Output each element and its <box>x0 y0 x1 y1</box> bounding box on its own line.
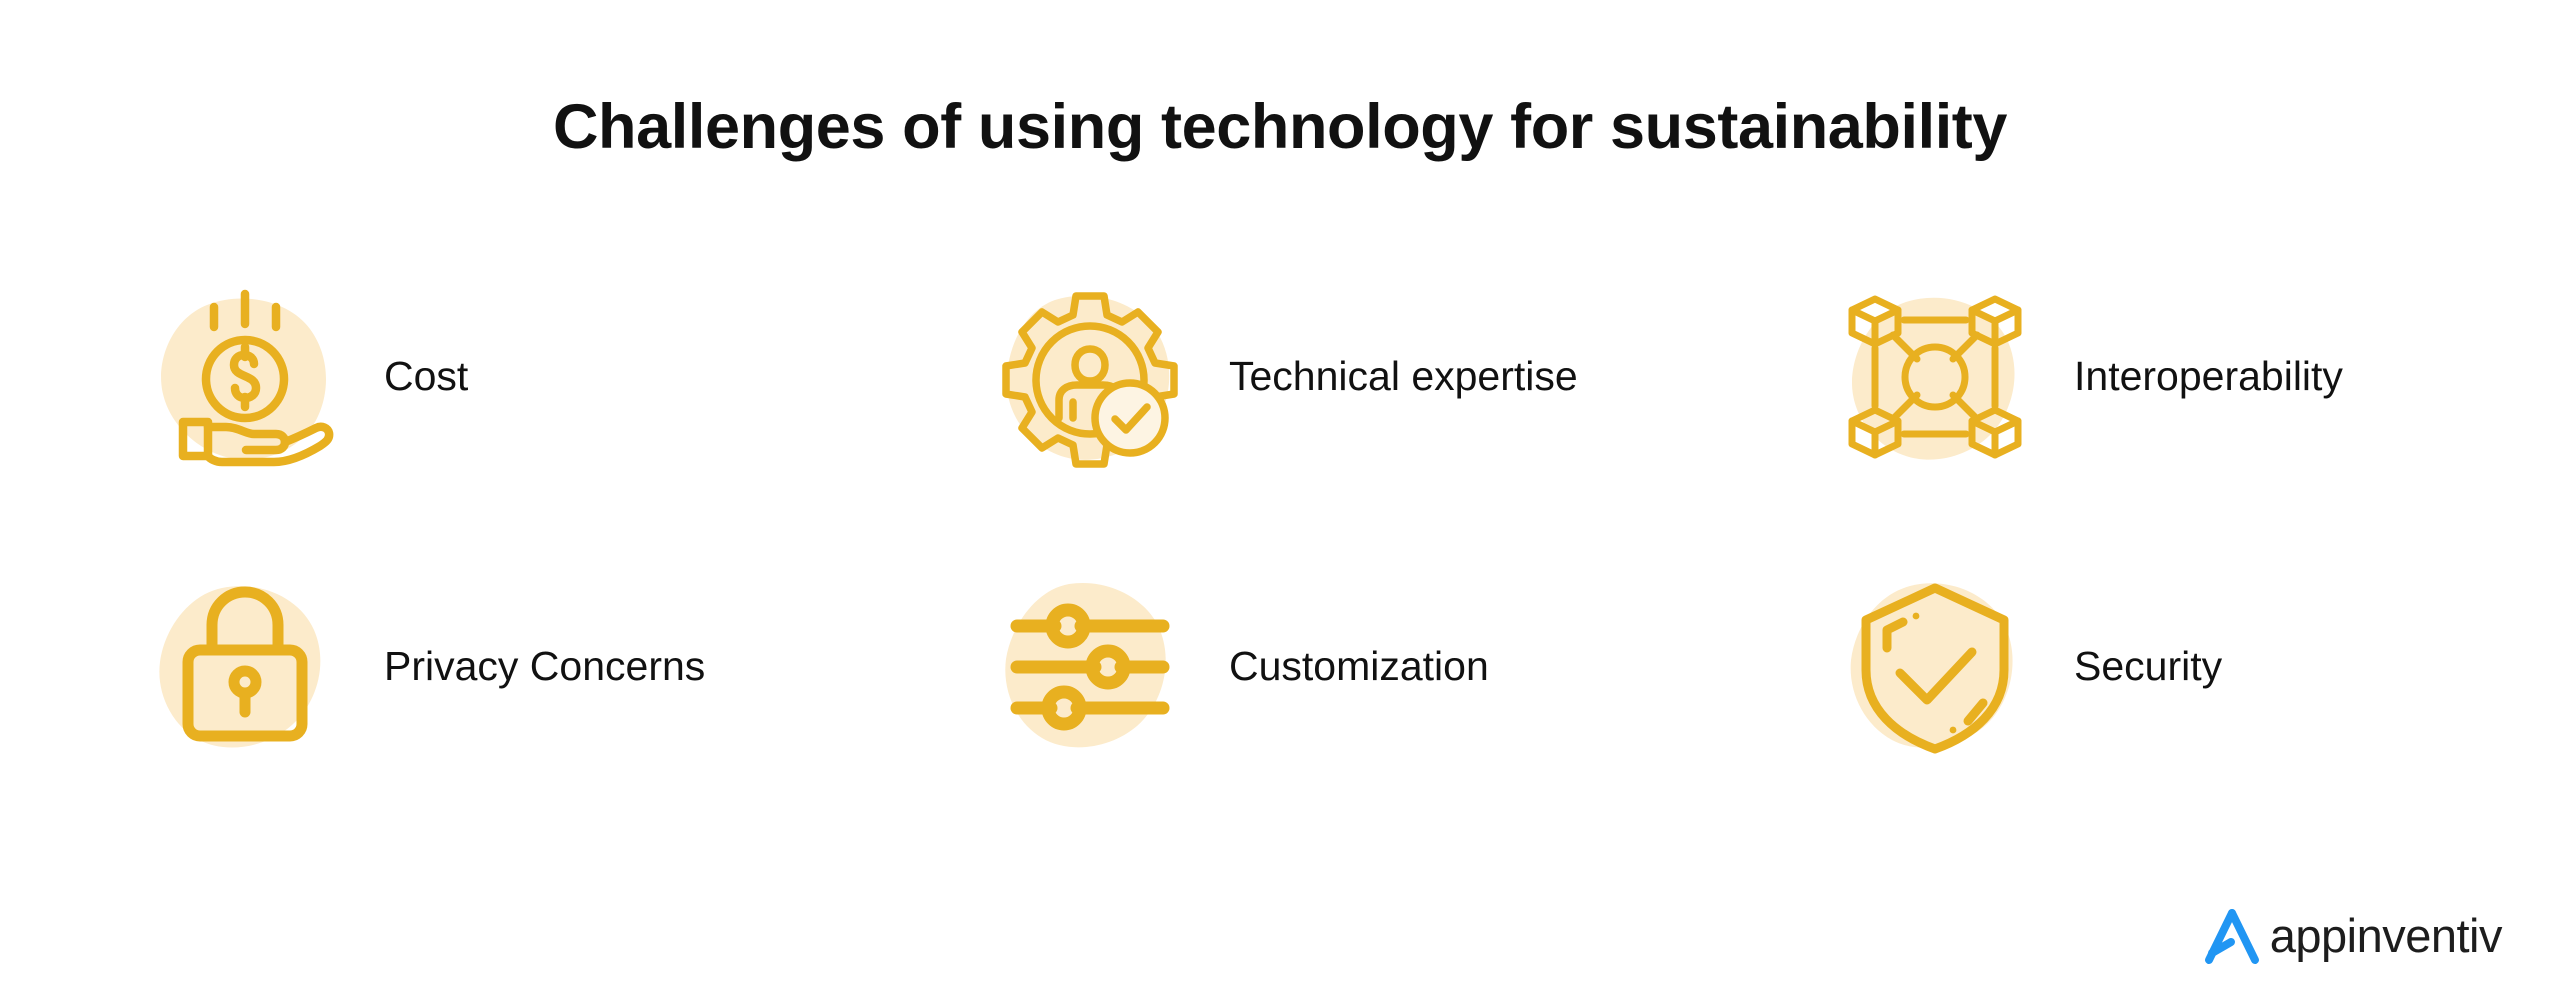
challenge-label: Interoperability <box>2074 352 2343 401</box>
challenge-label: Customization <box>1229 642 1489 691</box>
appinventiv-a-mark-icon <box>2200 906 2262 968</box>
shield-check-glyph <box>1840 572 2030 762</box>
challenge-label: Cost <box>384 352 468 401</box>
challenge-item-technical-expertise: Technical expertise <box>995 282 1840 472</box>
challenges-grid: Cost <box>150 282 2450 762</box>
challenge-item-cost: Cost <box>150 282 995 472</box>
challenge-item-interoperability: Interoperability <box>1840 282 2450 472</box>
shield-check-icon <box>1840 572 2030 762</box>
infographic-canvas: Challenges of using technology for susta… <box>0 0 2560 1006</box>
appinventiv-logo[interactable]: appinventiv <box>2200 906 2502 968</box>
sliders-icon <box>995 572 1185 762</box>
challenge-label: Technical expertise <box>1229 352 1578 401</box>
challenge-item-security: Security <box>1840 572 2450 762</box>
padlock-glyph <box>150 572 340 762</box>
challenge-item-customization: Customization <box>995 572 1840 762</box>
page-title: Challenges of using technology for susta… <box>0 92 2560 163</box>
gear-person-check-icon <box>995 282 1185 472</box>
sliders-glyph <box>995 572 1185 762</box>
appinventiv-logo-text: appinventiv <box>2270 912 2502 963</box>
challenge-item-privacy-concerns: Privacy Concerns <box>150 572 995 762</box>
challenge-label: Security <box>2074 642 2222 691</box>
hand-holding-coin-glyph <box>150 282 340 472</box>
hand-holding-coin-icon <box>150 282 340 472</box>
gear-person-check-glyph <box>995 282 1185 472</box>
padlock-icon <box>150 572 340 762</box>
network-nodes-glyph <box>1840 282 2030 472</box>
challenge-label: Privacy Concerns <box>384 642 705 691</box>
network-nodes-icon <box>1840 282 2030 472</box>
